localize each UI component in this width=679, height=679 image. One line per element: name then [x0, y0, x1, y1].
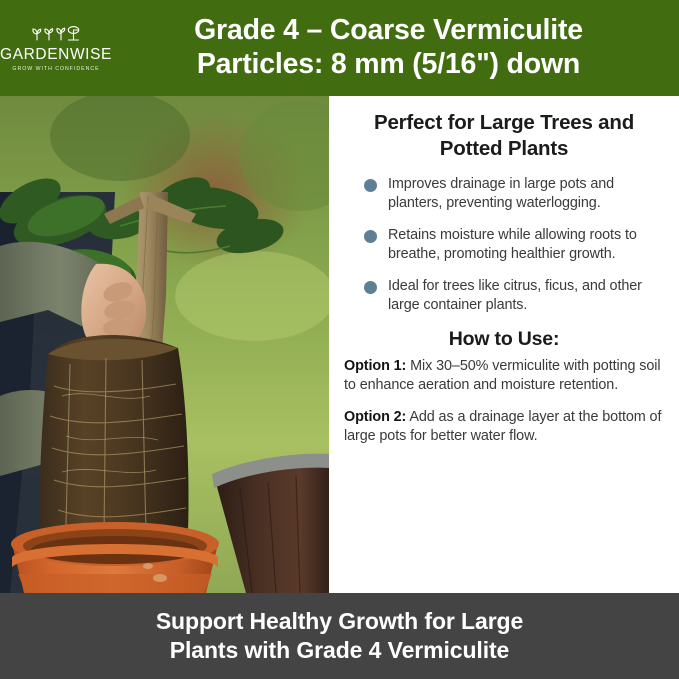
footer-line-1: Support Healthy Growth for Large: [156, 607, 523, 636]
bullet-dot-icon: [364, 230, 377, 243]
header-title-line-2: Particles: 8 mm (5/16") down: [112, 48, 665, 82]
footer-banner: Support Healthy Growth for Large Plants …: [0, 593, 679, 679]
photo-illustration: [0, 96, 329, 593]
benefit-text: Improves drainage in large pots and plan…: [388, 175, 664, 213]
header-banner: GARDENWISE GROW WITH CONFIDENCE Grade 4 …: [0, 0, 679, 96]
benefits-list: Improves drainage in large pots and plan…: [344, 175, 664, 315]
product-photo: [0, 96, 329, 593]
product-infographic: GARDENWISE GROW WITH CONFIDENCE Grade 4 …: [0, 0, 679, 679]
brand-logo: GARDENWISE GROW WITH CONFIDENCE: [0, 24, 112, 72]
benefit-text: Retains moisture while allowing roots to…: [388, 226, 664, 264]
list-item: Improves drainage in large pots and plan…: [364, 175, 664, 213]
list-item: Ideal for trees like citrus, ficus, and …: [364, 277, 664, 315]
footer-line-2: Plants with Grade 4 Vermiculite: [170, 636, 509, 665]
brand-tagline: GROW WITH CONFIDENCE: [12, 66, 99, 72]
option-1-paragraph: Option 1: Mix 30–50% vermiculite with po…: [344, 357, 664, 395]
how-to-use-heading: How to Use:: [344, 328, 664, 351]
option-2-paragraph: Option 2: Add as a drainage layer at the…: [344, 408, 664, 446]
benefit-text: Ideal for trees like citrus, ficus, and …: [388, 277, 664, 315]
header-title-block: Grade 4 – Coarse Vermiculite Particles: …: [112, 14, 679, 81]
bullet-dot-icon: [364, 281, 377, 294]
brand-name: GARDENWISE: [0, 47, 112, 63]
section-heading: Perfect for Large Trees and Potted Plant…: [344, 110, 664, 162]
option-2-label: Option 2:: [344, 409, 406, 425]
bullet-dot-icon: [364, 179, 377, 192]
option-1-label: Option 1:: [344, 358, 406, 374]
sprout-leaves-icon: [30, 26, 82, 46]
list-item: Retains moisture while allowing roots to…: [364, 226, 664, 264]
header-title-line-1: Grade 4 – Coarse Vermiculite: [112, 14, 665, 48]
content-panel: Perfect for Large Trees and Potted Plant…: [329, 96, 679, 593]
